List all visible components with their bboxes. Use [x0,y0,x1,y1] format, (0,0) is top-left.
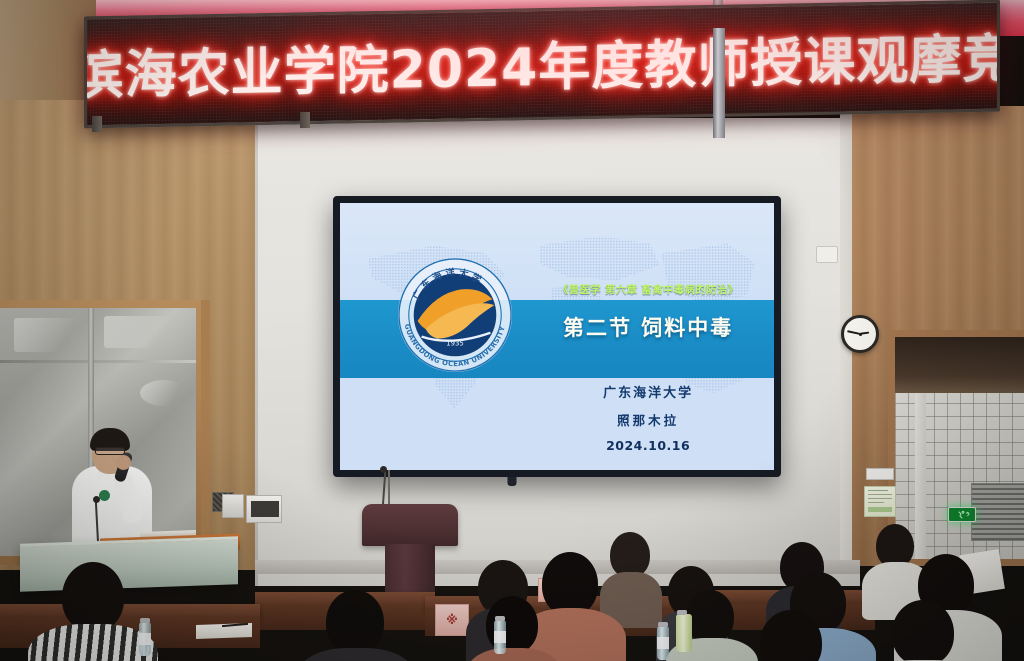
ceiling-pipe-lower [713,28,725,138]
lecture-hall-scene: 滨海农业学院2024年度教师授课观摩竞赛 [0,0,1024,661]
bottle-label-3 [657,637,669,649]
notice-line-4 [868,502,884,504]
lectern-top [362,504,458,546]
wall-clock [841,315,879,353]
water-bottle-3 [657,626,669,660]
screen-foot [508,477,517,486]
running-man-icon [953,510,971,520]
water-bottle-4 [676,614,692,652]
led-banner: 滨海农业学院2024年度教师授课观摩竞赛 [84,0,1000,128]
wall-control-panel[interactable] [246,495,282,523]
glass-reflection-3 [140,380,188,406]
glass-reflection-1 [14,318,86,352]
corridor-vent-grille [971,483,1024,541]
notice-footer-band [868,507,892,512]
led-banner-text: 滨海农业学院2024年度教师授课观摩竞赛 [84,15,1000,109]
presenter-shirt-logo [99,490,110,501]
wall-notice [864,486,896,517]
wall-socket[interactable] [816,246,838,263]
glass-reflection-2 [104,316,184,348]
control-panel-screen [251,501,279,517]
slide-subtitle: 《兽医学 第六章 畜禽中毒病的防治》 [531,282,765,297]
presenter-glasses [95,447,125,455]
presentation-slide: 1935 广 东 海 洋 大 学 GUANGDONG OCEAN UNIVERS… [340,203,774,470]
light-switch-plate[interactable] [866,468,894,480]
bottle-cap-4 [677,610,687,615]
slide-text-column: 《兽医学 第六章 畜禽中毒病的防治》 第二节 饲料中毒 广东海洋大学 照那木拉 … [531,203,765,470]
projection-screen[interactable]: 1935 广 东 海 洋 大 学 GUANGDONG OCEAN UNIVERS… [333,196,781,477]
led-banner-mount-mid [300,112,310,128]
wall-switch-box[interactable] [222,494,244,518]
slide-title: 第二节 饲料中毒 [531,312,765,342]
notice-line-3 [868,498,892,500]
bottle-cap-2 [495,616,505,621]
exit-sign [948,507,976,522]
lectern-mic-head-icon [380,466,387,473]
notice-line-2 [868,494,892,496]
slide-organization: 广东海洋大学 [531,382,765,401]
university-logo: 1935 广 东 海 洋 大 学 GUANGDONG OCEAN UNIVERS… [396,256,514,374]
door-transom [895,337,1024,393]
name-placard-left-text: ※ [436,605,468,635]
name-placard-left: ※ [435,604,469,636]
podium-mic-head-icon [93,496,100,503]
logo-year: 1935 [447,340,465,348]
notice-line-1 [868,490,888,492]
corridor-post [915,393,926,566]
slide-date: 2024.10.16 [531,438,765,453]
bottle-label-1 [139,633,151,645]
bottle-label-2 [494,631,506,643]
presenter-hand [116,455,131,470]
bottle-cap-3 [658,622,668,627]
water-bottle-1 [139,622,151,656]
slide-author: 照那木拉 [531,410,765,429]
water-bottle-2 [494,620,506,654]
podium-desk [20,536,238,592]
bottle-cap-1 [140,618,150,623]
led-banner-mount-left [92,116,102,132]
clock-center-pin [859,333,862,336]
